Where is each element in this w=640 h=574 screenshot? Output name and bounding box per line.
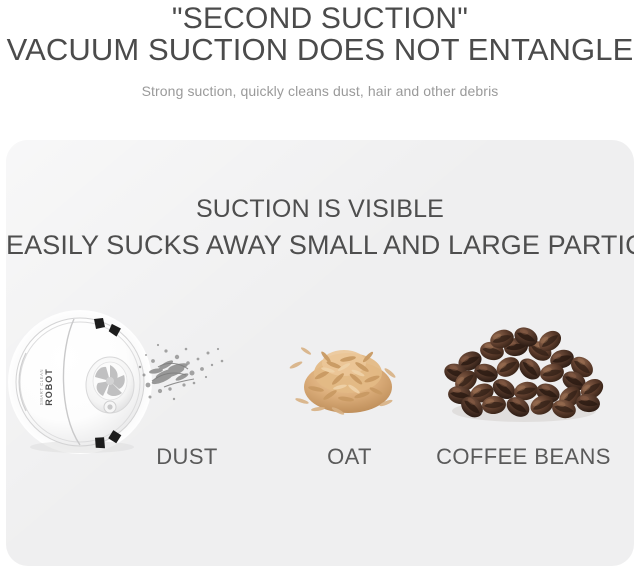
specimen-row: ROBOT SMART CLEAN [6, 315, 634, 495]
robot-brand-label: ROBOT [44, 368, 54, 406]
robot-brand-sublabel: SMART CLEAN [39, 369, 44, 405]
coffee-beans-illustration [426, 315, 621, 445]
specimen-label-dust: DUST [122, 443, 252, 471]
panel-headline-primary: SUCTION IS VISIBLE [6, 195, 634, 223]
specimen-coffee-beans: COFFEE BEANS [426, 315, 621, 495]
headline-primary: "SECOND SUCTION" [0, 3, 640, 35]
specimen-label-oat: OAT [282, 443, 417, 471]
page-header: "SECOND SUCTION" VACUUM SUCTION DOES NOT… [0, 0, 640, 140]
specimen-dust: DUST [122, 315, 252, 495]
dust-illustration [122, 315, 252, 445]
oat-illustration [282, 315, 417, 445]
specimen-label-coffee-beans: COFFEE BEANS [426, 443, 621, 471]
headline-secondary: VACUUM SUCTION DOES NOT ENTANGLE [0, 33, 640, 67]
panel-headline-secondary: EASILY SUCKS AWAY SMALL AND LARGE PARTIC… [6, 230, 634, 260]
headline-subtitle: Strong suction, quickly cleans dust, hai… [0, 82, 640, 100]
feature-panel: SUCTION IS VISIBLE EASILY SUCKS AWAY SMA… [6, 140, 634, 566]
specimen-oat: OAT [282, 315, 417, 495]
